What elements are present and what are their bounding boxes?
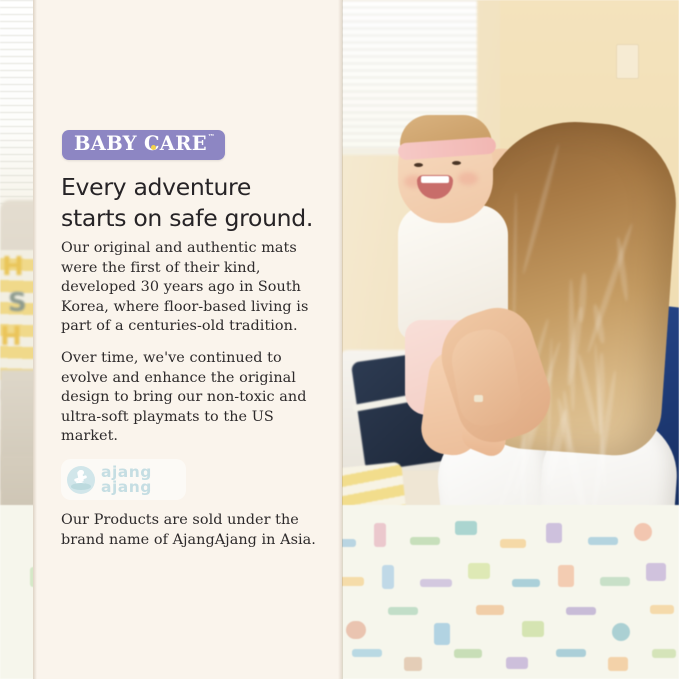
baby-eye-right bbox=[452, 161, 461, 165]
hair-strand bbox=[521, 143, 561, 274]
promo-image-root: HSH bbox=[0, 0, 679, 679]
badge-word-are: ARE bbox=[160, 132, 207, 155]
playmat-pattern-shape bbox=[374, 523, 386, 547]
playmat-pattern-shape bbox=[650, 605, 674, 614]
wall-outlet-icon bbox=[616, 44, 639, 79]
pillow-letter: H bbox=[0, 322, 22, 352]
ajangajang-emblem-icon bbox=[67, 466, 95, 494]
playmat-pattern-shape bbox=[352, 649, 382, 657]
baby-eye-left bbox=[414, 163, 423, 167]
playmat-pattern-shape bbox=[410, 537, 440, 545]
blind-slat bbox=[337, 56, 477, 57]
blind-slat bbox=[337, 77, 477, 78]
playmat-pattern-shape bbox=[600, 577, 630, 586]
blind-slat bbox=[337, 14, 477, 15]
badge-letter-c: C bbox=[144, 134, 160, 154]
playmat-pattern-shape bbox=[420, 579, 452, 587]
playmat-pattern-shape bbox=[346, 621, 366, 639]
playmat-pattern-shape bbox=[512, 579, 540, 587]
ajangajang-wordmark: ajang ajang bbox=[101, 465, 152, 495]
playmat-pattern-shape bbox=[634, 523, 652, 541]
playmat-pattern-shape bbox=[454, 649, 482, 658]
blind-slat bbox=[337, 0, 477, 1]
blind-slat bbox=[337, 42, 477, 43]
playmat-pattern-shape bbox=[500, 539, 526, 548]
trademark-symbol: ™ bbox=[208, 132, 215, 141]
playmat-pattern-shape bbox=[646, 563, 666, 581]
playmat-pattern-shape bbox=[404, 657, 422, 671]
blind-slat bbox=[337, 112, 477, 113]
blind-slat bbox=[337, 91, 477, 92]
page-headline: Every adventure starts on safe ground. bbox=[61, 172, 331, 234]
blind-slat bbox=[337, 49, 477, 50]
headline-line-2: starts on safe ground. bbox=[61, 203, 331, 234]
ajangajang-logo: ajang ajang bbox=[61, 459, 186, 500]
blind-slat bbox=[337, 35, 477, 36]
panel-right-shadow bbox=[338, 0, 343, 679]
badge-word-baby: BABY bbox=[74, 132, 144, 155]
baby-care-logo-text: BABY CARE™ bbox=[74, 134, 214, 154]
headline-line-1: Every adventure bbox=[61, 172, 331, 203]
blind-slat bbox=[337, 21, 477, 22]
blind-slat bbox=[337, 28, 477, 29]
baby-teeth bbox=[421, 176, 449, 183]
blind-slat bbox=[337, 63, 477, 64]
panel-content: BABY CARE™ Every adventure starts on saf… bbox=[28, 0, 298, 679]
playmat-pattern-shape bbox=[455, 521, 477, 535]
playmat-pattern-shape bbox=[608, 657, 628, 671]
playmat-pattern-shape bbox=[382, 565, 394, 589]
body-paragraph-1: Our original and authentic mats were the… bbox=[61, 239, 323, 337]
blind-slat bbox=[337, 105, 477, 106]
playmat-pattern-shape bbox=[612, 623, 630, 641]
pillow-letter: S bbox=[8, 288, 27, 318]
wedding-ring bbox=[474, 395, 483, 402]
playmat-pattern-shape bbox=[434, 623, 450, 645]
body-paragraph-3: Our Products are sold under the brand na… bbox=[61, 511, 323, 550]
playmat-pattern-shape bbox=[556, 649, 586, 657]
playmat-pattern-shape bbox=[468, 563, 490, 579]
playmat-pattern-shape bbox=[388, 607, 418, 615]
emblem-figure-head bbox=[78, 470, 84, 476]
playmat-pattern-shape bbox=[506, 657, 528, 669]
blind-slat bbox=[337, 70, 477, 71]
playmat-pattern-shape bbox=[566, 607, 596, 615]
body-paragraph-2: Over time, we've continued to evolve and… bbox=[61, 349, 323, 447]
blind-slat bbox=[337, 7, 477, 8]
playmat-pattern-shape bbox=[522, 621, 544, 637]
playmat-pattern-shape bbox=[476, 605, 504, 615]
blind-slat bbox=[337, 84, 477, 85]
playmat-pattern-shape bbox=[588, 537, 618, 545]
baby-care-logo-badge: BABY CARE™ bbox=[62, 130, 225, 160]
playmat-pattern-shape bbox=[558, 565, 574, 587]
ajang-word-line-2: ajang bbox=[101, 480, 152, 495]
blind-slat bbox=[337, 98, 477, 99]
pillow-letter: H bbox=[2, 252, 24, 282]
playmat-pattern-shape bbox=[546, 523, 562, 543]
baby-cheek-right bbox=[458, 172, 478, 185]
playmat-pattern-shape bbox=[652, 649, 676, 658]
